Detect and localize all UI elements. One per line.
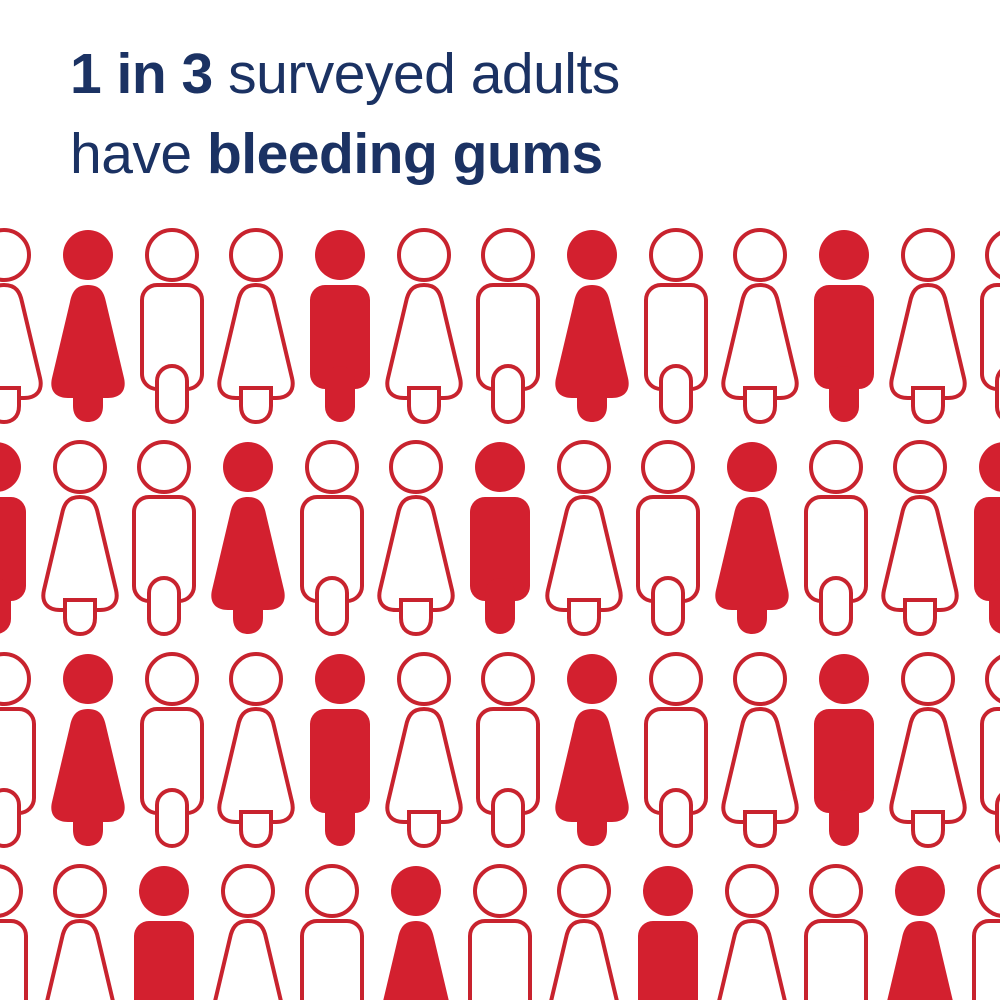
person-glyph [794, 864, 878, 1000]
person-glyph [794, 440, 878, 636]
person-icon-male-outline [122, 440, 206, 636]
person-glyph [122, 864, 206, 1000]
person-glyph [626, 864, 710, 1000]
person-glyph [298, 228, 382, 424]
person-icon-female-outline [710, 864, 794, 1000]
person-icon-female-outline [0, 228, 46, 424]
person-icon-male-outline [130, 652, 214, 848]
person-glyph [802, 652, 886, 848]
person-glyph [886, 652, 970, 848]
person-glyph [962, 440, 1000, 636]
person-icon-female-outline [542, 440, 626, 636]
person-glyph [886, 228, 970, 424]
person-icon-male-outline [290, 440, 374, 636]
person-icon-male-filled [626, 864, 710, 1000]
person-icon-male-outline [0, 864, 38, 1000]
person-glyph [38, 440, 122, 636]
person-icon-female-filled [374, 864, 458, 1000]
person-icon-female-filled [46, 228, 130, 424]
person-glyph [130, 228, 214, 424]
person-glyph [206, 864, 290, 1000]
person-icon-female-outline [38, 440, 122, 636]
person-icon-female-outline [382, 652, 466, 848]
person-icon-male-outline [970, 228, 1000, 424]
person-icon-male-outline [458, 864, 542, 1000]
person-glyph [382, 652, 466, 848]
person-glyph [550, 228, 634, 424]
person-icon-male-filled [122, 864, 206, 1000]
person-glyph [46, 228, 130, 424]
person-icon-female-filled [878, 864, 962, 1000]
person-icon-female-filled [206, 440, 290, 636]
person-icon-female-filled [710, 440, 794, 636]
person-glyph [130, 652, 214, 848]
person-icon-female-outline [542, 864, 626, 1000]
person-icon-male-outline [0, 652, 46, 848]
person-glyph [962, 864, 1000, 1000]
person-icon-male-filled [962, 440, 1000, 636]
pictogram-chart [0, 0, 1000, 1000]
person-glyph [970, 228, 1000, 424]
person-glyph [0, 864, 38, 1000]
person-glyph [0, 440, 38, 636]
person-icon-male-outline [130, 228, 214, 424]
person-icon-male-outline [794, 440, 878, 636]
person-glyph [458, 440, 542, 636]
person-glyph [466, 228, 550, 424]
person-icon-female-outline [878, 440, 962, 636]
person-glyph [466, 652, 550, 848]
person-glyph [0, 652, 46, 848]
person-icon-male-filled [802, 652, 886, 848]
person-glyph [458, 864, 542, 1000]
person-glyph [710, 864, 794, 1000]
person-glyph [542, 864, 626, 1000]
person-icon-female-outline [206, 864, 290, 1000]
person-icon-female-outline [214, 652, 298, 848]
person-icon-male-outline [626, 440, 710, 636]
person-icon-female-outline [886, 228, 970, 424]
person-icon-female-outline [374, 440, 458, 636]
person-glyph [214, 652, 298, 848]
person-icon-female-outline [382, 228, 466, 424]
person-glyph [634, 228, 718, 424]
person-icon-female-outline [886, 652, 970, 848]
person-icon-female-filled [550, 228, 634, 424]
person-glyph [550, 652, 634, 848]
person-glyph [290, 864, 374, 1000]
person-icon-male-outline [290, 864, 374, 1000]
person-icon-female-filled [550, 652, 634, 848]
person-icon-male-filled [0, 440, 38, 636]
person-glyph [206, 440, 290, 636]
person-icon-male-outline [466, 228, 550, 424]
person-glyph [970, 652, 1000, 848]
person-icon-male-outline [466, 652, 550, 848]
person-glyph [542, 440, 626, 636]
person-icon-male-outline [794, 864, 878, 1000]
person-icon-male-filled [298, 652, 382, 848]
person-glyph [38, 864, 122, 1000]
person-icon-female-outline [718, 652, 802, 848]
person-glyph [46, 652, 130, 848]
person-glyph [374, 864, 458, 1000]
person-icon-male-outline [634, 228, 718, 424]
person-glyph [0, 228, 46, 424]
person-icon-female-outline [214, 228, 298, 424]
person-icon-female-outline [718, 228, 802, 424]
person-glyph [718, 652, 802, 848]
person-glyph [710, 440, 794, 636]
person-icon-male-outline [970, 652, 1000, 848]
person-glyph [374, 440, 458, 636]
person-glyph [382, 228, 466, 424]
person-icon-female-outline [38, 864, 122, 1000]
person-glyph [122, 440, 206, 636]
person-icon-male-outline [634, 652, 718, 848]
person-glyph [290, 440, 374, 636]
person-icon-male-outline [962, 864, 1000, 1000]
person-glyph [634, 652, 718, 848]
person-icon-male-filled [298, 228, 382, 424]
person-icon-male-filled [802, 228, 886, 424]
person-glyph [626, 440, 710, 636]
person-icon-female-filled [46, 652, 130, 848]
person-glyph [802, 228, 886, 424]
person-glyph [878, 864, 962, 1000]
person-icon-male-filled [458, 440, 542, 636]
person-glyph [878, 440, 962, 636]
person-glyph [214, 228, 298, 424]
infographic-canvas: 1 in 3 surveyed adults have bleeding gum… [0, 0, 1000, 1000]
person-glyph [718, 228, 802, 424]
person-glyph [298, 652, 382, 848]
